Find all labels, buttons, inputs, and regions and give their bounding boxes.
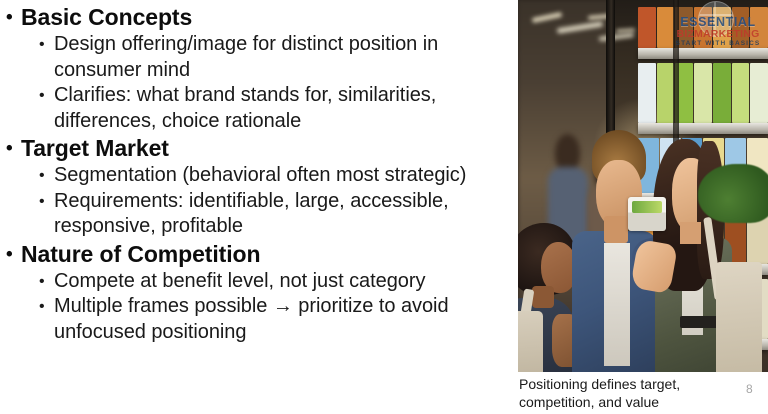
bullet-group-target-market: • Target Market • Segmentation (behavior… xyxy=(6,134,512,240)
heading-text-3: Nature of Competition xyxy=(21,240,512,269)
bullet-glyph-icon: • xyxy=(39,163,54,189)
watermark-logo: ESSENTIAL BIZMARKETING START WITH BASICS xyxy=(672,1,764,53)
shopper-right-belt xyxy=(680,316,718,328)
sub-bullet-text-1-1: Design offering/image for distinct posit… xyxy=(54,32,512,83)
ceiling-light xyxy=(616,28,635,32)
bullet-glyph-icon: • xyxy=(39,294,54,320)
bullet-glyph-icon: • xyxy=(39,189,54,215)
product-container xyxy=(628,197,666,230)
bullet-glyph-icon: • xyxy=(39,32,54,58)
bullet-group-basic-concepts: • Basic Concepts • Design offering/image… xyxy=(6,3,512,134)
shopper-right-neck xyxy=(680,222,701,244)
sub-bullet-text-3-2: Multiple frames possible → prioritize to… xyxy=(54,294,512,345)
figure-image: ESSENTIAL BIZMARKETING START WITH BASICS xyxy=(518,0,768,372)
sub-bullet-text-2-1: Segmentation (behavioral often most stra… xyxy=(54,163,512,189)
product-label xyxy=(632,201,662,212)
bullet-glyph-icon: • xyxy=(6,134,21,163)
shopper-left-neck xyxy=(532,286,554,308)
sub-bullet-text-1-2: Clarifies: what brand stands for, simila… xyxy=(54,83,512,134)
sub-bullet-3-2: • Multiple frames possible → prioritize … xyxy=(39,294,512,345)
shopper-center-tshirt xyxy=(604,243,630,366)
sub-bullet-text-2-2: Requirements: identifiable, large, acces… xyxy=(54,189,512,240)
watermark-line-3: START WITH BASICS xyxy=(672,40,764,47)
slide: • Basic Concepts • Design offering/image… xyxy=(0,0,768,414)
heading-bullet-3: • Nature of Competition xyxy=(6,240,512,269)
bullet-group-nature-of-competition: • Nature of Competition • Compete at ben… xyxy=(6,240,512,346)
sub-bullet-2-1: • Segmentation (behavioral often most st… xyxy=(39,163,512,189)
bullet-glyph-icon: • xyxy=(39,269,54,295)
heading-bullet-2: • Target Market xyxy=(6,134,512,163)
heading-text-2: Target Market xyxy=(21,134,512,163)
sub-bullet-1-1: • Design offering/image for distinct pos… xyxy=(39,32,512,83)
fresh-greens-in-bag xyxy=(698,164,768,224)
heading-text-1: Basic Concepts xyxy=(21,3,512,32)
watermark-line-2: BIZMARKETING xyxy=(672,28,764,40)
bullet-glyph-icon: • xyxy=(39,83,54,109)
sub-bullet-text-3-1: Compete at benefit level, not just categ… xyxy=(54,269,512,295)
sub-bullet-2-2: • Requirements: identifiable, large, acc… xyxy=(39,189,512,240)
sub-bullet-3-1: • Compete at benefit level, not just cat… xyxy=(39,269,512,295)
shopper-center-neck xyxy=(604,216,628,243)
watermark-line-1: ESSENTIAL xyxy=(672,15,764,29)
page-number: 8 xyxy=(746,382,753,396)
slide-content-column: • Basic Concepts • Design offering/image… xyxy=(0,0,516,414)
product-row xyxy=(638,63,768,123)
ceiling-light xyxy=(532,11,562,22)
bullet-glyph-icon: • xyxy=(6,3,21,32)
sub-bullet-1-2: • Clarifies: what brand stands for, simi… xyxy=(39,83,512,134)
figure-caption: Positioning defines target, competition,… xyxy=(519,375,731,411)
tote-bag xyxy=(518,311,543,372)
heading-bullet-1: • Basic Concepts xyxy=(6,3,512,32)
tote-bag xyxy=(716,262,762,372)
photo-scene: ESSENTIAL BIZMARKETING START WITH BASICS xyxy=(518,0,768,372)
bullet-glyph-icon: • xyxy=(6,240,21,269)
